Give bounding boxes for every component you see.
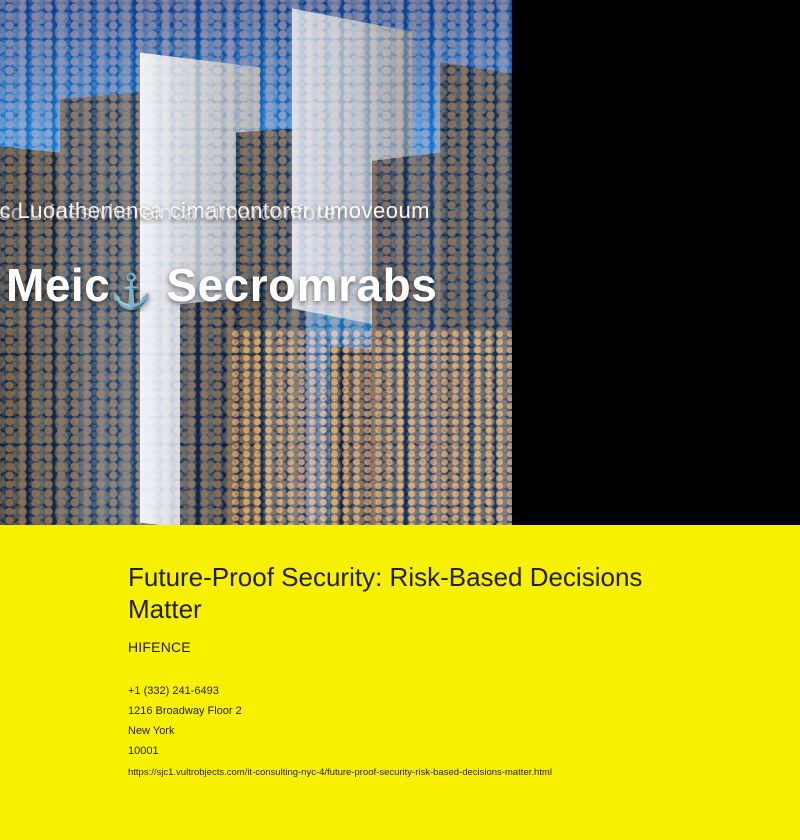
- hero-overlay-title: Meic⚓ Secromrabs: [6, 258, 512, 312]
- hero-image: isc L.foeswhereinca cimarconforer ic Luo…: [0, 0, 512, 525]
- contact-city: New York: [128, 721, 760, 741]
- contact-zip: 10001: [128, 741, 760, 761]
- page-root: isc L.foeswhereinca cimarconforer ic Luo…: [0, 0, 800, 840]
- hero-overlay-title-after: Secromrabs: [153, 259, 437, 311]
- info-panel-content: Future-Proof Security: Risk-Based Decisi…: [128, 562, 760, 778]
- brand-name: HIFENCE: [128, 639, 760, 655]
- contact-block: +1 (332) 241-6493 1216 Broadway Floor 2 …: [128, 681, 760, 761]
- page-url[interactable]: https://sjc1.vultrobjects.com/it-consult…: [128, 767, 760, 778]
- info-panel: Future-Proof Security: Risk-Based Decisi…: [0, 525, 800, 840]
- hero-overlay-subtitle-ghost: isc L.foeswhereinca cimarconforer: [0, 200, 344, 224]
- contact-phone: +1 (332) 241-6493: [128, 681, 760, 701]
- contact-address-line1: 1216 Broadway Floor 2: [128, 701, 760, 721]
- page-title: Future-Proof Security: Risk-Based Decisi…: [128, 562, 648, 625]
- anchor-icon: ⚓: [110, 272, 153, 312]
- hero-overlay-title-before: Meic: [6, 259, 110, 311]
- window-lights: [230, 330, 512, 525]
- hero-overlay-subtitle: isc L.foeswhereinca cimarconforer ic Luo…: [0, 198, 512, 224]
